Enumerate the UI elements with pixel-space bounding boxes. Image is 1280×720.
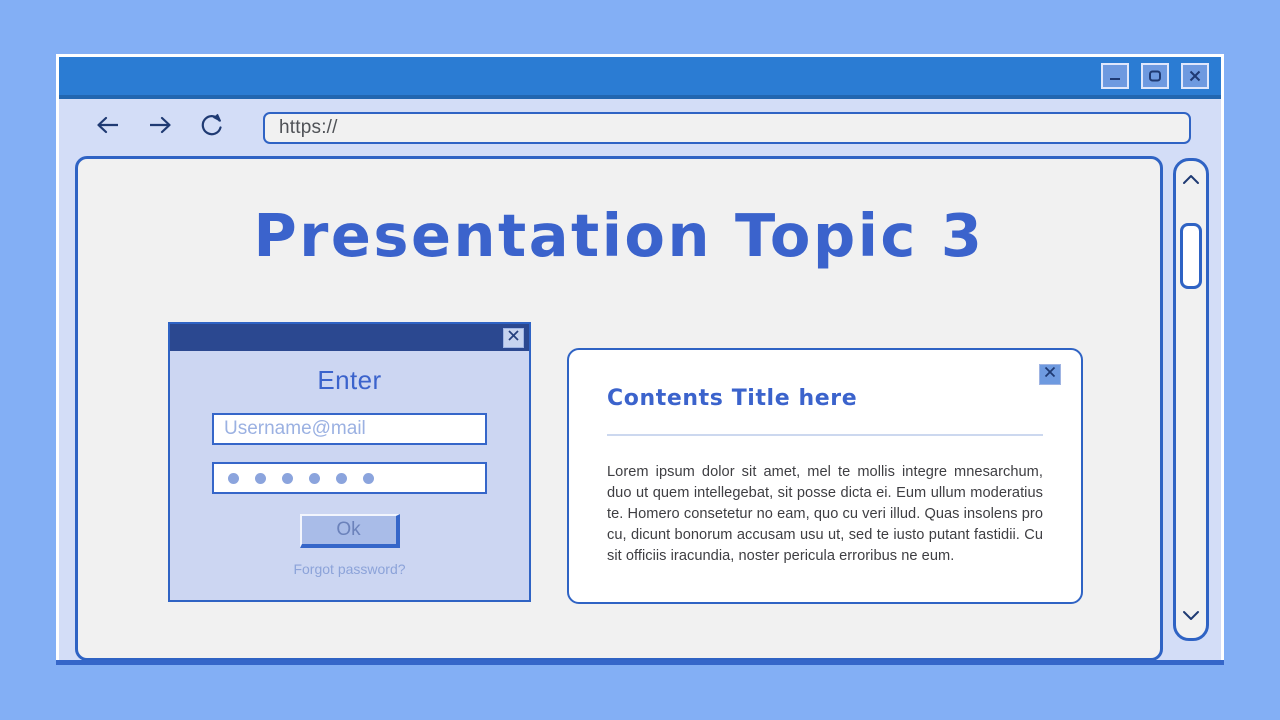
browser-title-bar bbox=[59, 57, 1221, 99]
reload-button[interactable] bbox=[197, 113, 227, 143]
login-dialog-body: Enter Username@mail bbox=[170, 365, 529, 614]
password-dot bbox=[336, 473, 347, 484]
username-placeholder: Username@mail bbox=[224, 418, 366, 440]
browser-bottom-edge bbox=[56, 660, 1224, 665]
url-bar[interactable]: https:// bbox=[263, 112, 1191, 144]
minimize-button[interactable] bbox=[1101, 63, 1129, 89]
scrollbar-thumb[interactable] bbox=[1180, 223, 1202, 289]
browser-viewport-row: Presentation Topic 3 Enter Username@mail bbox=[59, 156, 1221, 661]
back-button[interactable] bbox=[93, 113, 123, 143]
login-dialog: Enter Username@mail bbox=[168, 322, 531, 602]
maximize-button[interactable] bbox=[1141, 63, 1169, 89]
forward-arrow-icon bbox=[146, 113, 174, 142]
contents-card-close-button[interactable] bbox=[1039, 364, 1061, 385]
contents-card-body: Lorem ipsum dolor sit amet, mel te molli… bbox=[607, 462, 1043, 567]
contents-card-divider bbox=[607, 434, 1043, 436]
page-content-area: Presentation Topic 3 Enter Username@mail bbox=[75, 156, 1163, 661]
password-dot bbox=[363, 473, 374, 484]
close-button[interactable] bbox=[1181, 63, 1209, 89]
close-icon bbox=[1187, 69, 1203, 83]
password-dots bbox=[224, 473, 374, 484]
ok-button-wrap: Ok bbox=[212, 514, 487, 548]
scroll-up-button[interactable] bbox=[1178, 169, 1204, 195]
ok-button[interactable]: Ok bbox=[300, 514, 400, 548]
browser-window: https:// Presentation Topic 3 Enter bbox=[56, 54, 1224, 664]
scroll-down-button[interactable] bbox=[1178, 604, 1204, 630]
chevron-down-icon bbox=[1181, 608, 1201, 627]
login-dialog-close-button[interactable] bbox=[503, 328, 524, 348]
contents-card-title: Contents Title here bbox=[607, 386, 1043, 411]
forward-button[interactable] bbox=[145, 113, 175, 143]
username-field[interactable]: Username@mail bbox=[212, 413, 487, 445]
page-title: Presentation Topic 3 bbox=[78, 201, 1160, 270]
contents-card: Contents Title here Lorem ipsum dolor si… bbox=[567, 348, 1083, 604]
password-field[interactable] bbox=[212, 462, 487, 494]
reload-icon bbox=[199, 112, 225, 143]
url-input[interactable]: https:// bbox=[279, 117, 338, 139]
chevron-up-icon bbox=[1181, 173, 1201, 192]
close-icon bbox=[507, 329, 520, 347]
close-icon bbox=[1043, 365, 1057, 384]
browser-toolbar: https:// bbox=[59, 99, 1221, 156]
forgot-password-link[interactable]: Forgot password? bbox=[212, 561, 487, 577]
password-dot bbox=[255, 473, 266, 484]
vertical-scrollbar[interactable] bbox=[1173, 158, 1209, 641]
password-dot bbox=[309, 473, 320, 484]
back-arrow-icon bbox=[94, 113, 122, 142]
password-dot bbox=[228, 473, 239, 484]
login-dialog-title-bar bbox=[170, 324, 529, 351]
login-heading: Enter bbox=[212, 365, 487, 396]
password-dot bbox=[282, 473, 293, 484]
maximize-icon bbox=[1147, 69, 1163, 83]
minimize-icon bbox=[1107, 69, 1123, 83]
